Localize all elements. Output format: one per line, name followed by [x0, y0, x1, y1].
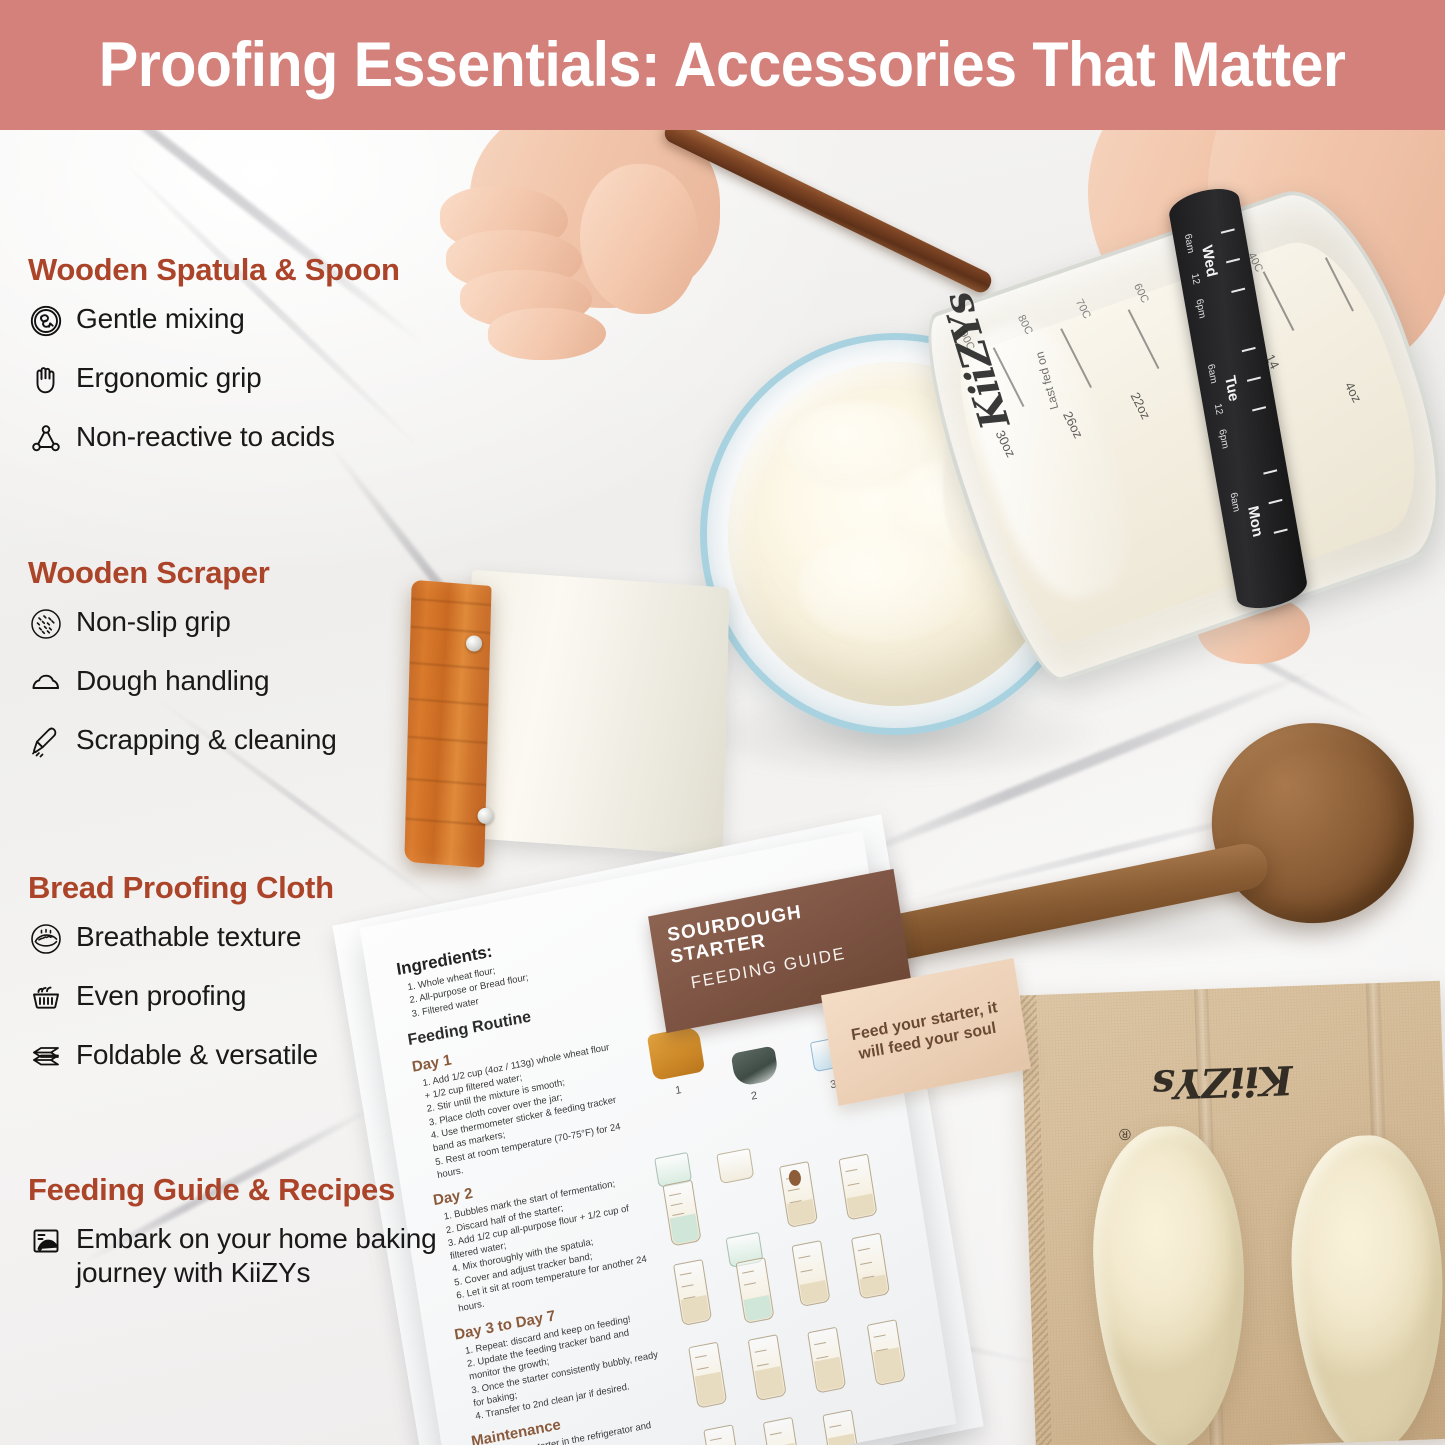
feature-bullet: Dough handling — [28, 664, 337, 701]
couche-brand-logo: KiiZYs — [1152, 1056, 1293, 1108]
feature-bullet-label: Even proofing — [76, 979, 246, 1013]
feature-bullet-label: Scrapping & cleaning — [76, 723, 337, 757]
section-feeding-guide-recipes: Feeding Guide & Recipes Embark on your h… — [28, 1172, 476, 1312]
header-band: Proofing Essentials: Accessories That Ma… — [0, 0, 1445, 130]
molecule-icon — [28, 421, 64, 457]
feature-bullet: Ergonomic grip — [28, 361, 400, 398]
infographic-poster: 30oz 26oz 22oz 18oz 14 4oz 90C 80C 70C 6… — [0, 0, 1445, 1445]
flour-pitcher-illustration — [716, 1148, 754, 1184]
feature-bullet: Foldable & versatile — [28, 1038, 334, 1075]
tracker-hour-label: 12 — [1212, 402, 1225, 416]
bowl-illustration — [730, 1046, 779, 1088]
section-heading: Wooden Spatula & Spoon — [28, 252, 400, 288]
folded-cloth-icon — [28, 1039, 64, 1075]
jar-illustration — [703, 1424, 742, 1445]
dough-batard — [1287, 1133, 1445, 1445]
card-step-number: 1 — [674, 1084, 682, 1097]
feature-bullet: Breathable texture — [28, 920, 334, 957]
feature-bullet-label: Breathable texture — [76, 920, 301, 954]
dough-batard — [1089, 1124, 1250, 1445]
tracker-hour-label: 6am — [1182, 233, 1196, 255]
jar-illustration — [747, 1334, 786, 1401]
section-bread-proofing-cloth: Bread Proofing Cloth Breathable texture — [28, 870, 334, 1097]
feature-bullet-label: Ergonomic grip — [76, 361, 262, 395]
feature-bullet-label: Non-slip grip — [76, 605, 231, 639]
jar-illustration — [866, 1319, 905, 1386]
scraper-blade-icon — [28, 724, 64, 760]
bread-proofing-cloth: KiiZYs ® — [1020, 981, 1445, 1445]
swirl-mixing-icon — [28, 303, 64, 339]
feature-bullet: Embark on your home baking journey with … — [28, 1222, 476, 1290]
tracker-day-label: Mon — [1244, 504, 1266, 539]
jar-illustration — [822, 1409, 861, 1445]
feature-bullet: Non-slip grip — [28, 605, 337, 642]
jar-illustration — [673, 1259, 712, 1326]
feature-bullet-label: Dough handling — [76, 664, 269, 698]
section-wooden-scraper: Wooden Scraper Non-slip grip — [28, 555, 337, 782]
tracker-hour-label: 12 — [1189, 272, 1202, 286]
open-hand-icon — [28, 362, 64, 398]
recipe-card-icon — [28, 1223, 64, 1259]
jar-illustration — [688, 1342, 727, 1409]
page-title: Proofing Essentials: Accessories That Ma… — [99, 34, 1346, 97]
feature-bullet: Gentle mixing — [28, 302, 400, 339]
tracker-hour-label: 6pm — [1193, 298, 1207, 320]
jar-illustration — [662, 1180, 701, 1247]
feature-bullet-label: Foldable & versatile — [76, 1038, 318, 1072]
feature-text-column: Wooden Spatula & Spoon Gentle mixing — [0, 130, 500, 1445]
dough-mound-icon — [28, 665, 64, 701]
breathable-loaf-circle-icon — [28, 921, 64, 957]
section-heading: Feeding Guide & Recipes — [28, 1172, 476, 1208]
section-wooden-spatula-spoon: Wooden Spatula & Spoon Gentle mixing — [28, 252, 400, 479]
jar-illustration — [735, 1257, 774, 1324]
spoon-bowl — [1203, 715, 1422, 932]
tracker-day-label: Tue — [1221, 374, 1242, 403]
flour-sack-illustration — [646, 1026, 704, 1081]
feature-bullet: Even proofing — [28, 979, 334, 1016]
jar-illustration — [762, 1417, 801, 1445]
card-quote-text: Feed your starter, it will feed your sou… — [838, 995, 1013, 1068]
feature-bullet-label: Non-reactive to acids — [76, 420, 335, 454]
card-step-number: 2 — [750, 1090, 758, 1103]
tracker-day-label: Wed — [1198, 244, 1220, 279]
jar-illustration — [838, 1154, 877, 1221]
feature-bullet-label: Embark on your home baking journey with … — [76, 1222, 476, 1290]
tracker-hour-label: 6am — [1205, 363, 1219, 385]
section-heading: Wooden Scraper — [28, 555, 337, 591]
proofing-basket-icon — [28, 980, 64, 1016]
jar-illustration — [807, 1327, 846, 1394]
jar-illustration — [791, 1240, 830, 1307]
couche-registered-mark: ® — [1119, 1124, 1131, 1142]
jar-illustration — [851, 1233, 890, 1300]
scraper-blade — [465, 570, 730, 856]
feature-bullet: Non-reactive to acids — [28, 420, 400, 457]
dotted-grip-circle-icon — [28, 606, 64, 642]
tracker-hour-label: 6pm — [1216, 428, 1230, 450]
tracker-hour-label: 6am — [1228, 491, 1242, 513]
feature-bullet: Scrapping & cleaning — [28, 723, 337, 760]
feature-bullet-label: Gentle mixing — [76, 302, 245, 336]
section-heading: Bread Proofing Cloth — [28, 870, 334, 906]
